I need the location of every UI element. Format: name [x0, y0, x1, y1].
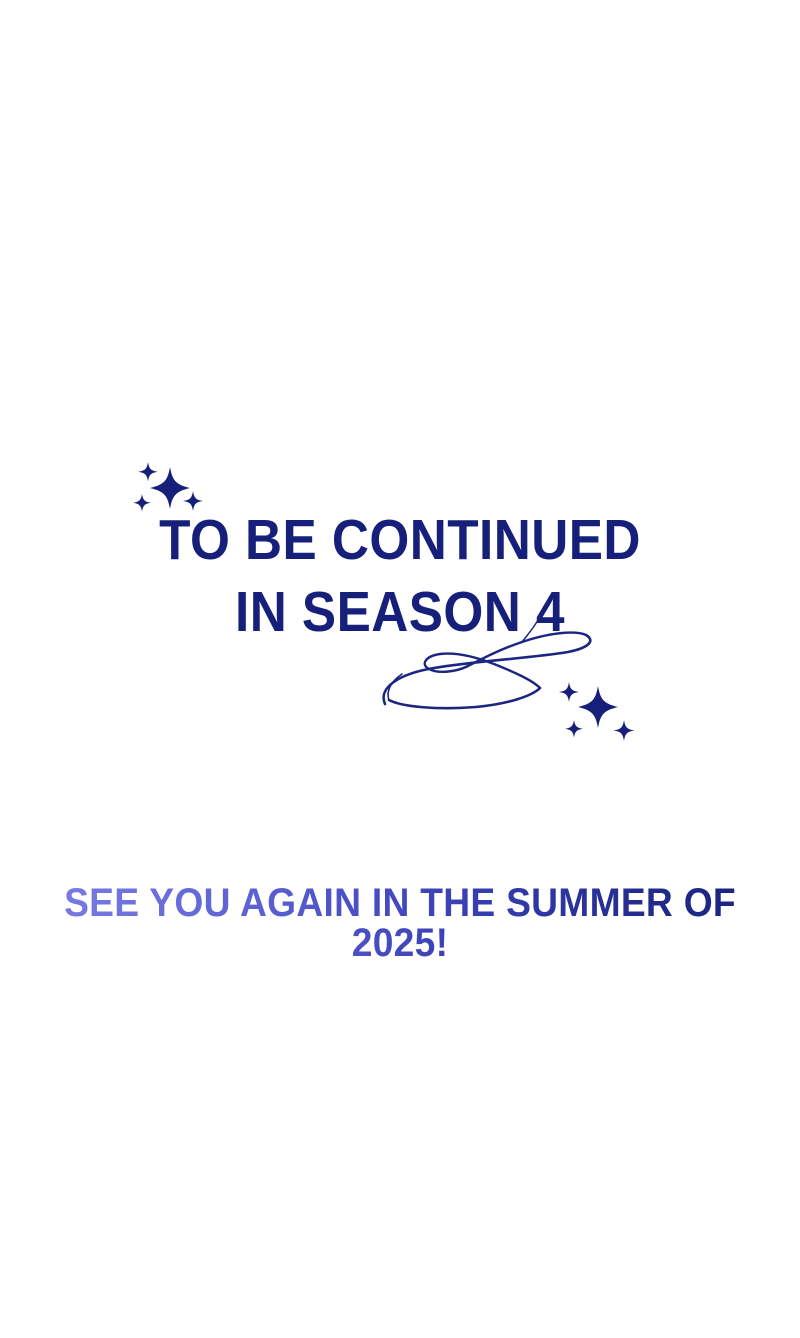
headline-line-2: IN SEASON 4 [40, 584, 760, 641]
end-card-page: TO BE CONTINUED IN SEASON 4 [0, 0, 800, 1338]
announcement-block: TO BE CONTINUED IN SEASON 4 [0, 440, 800, 770]
tagline-text: SEE YOU AGAIN IN THE SUMMER OF 2025! [28, 883, 772, 963]
headline-line-1: TO BE CONTINUED [40, 512, 760, 569]
